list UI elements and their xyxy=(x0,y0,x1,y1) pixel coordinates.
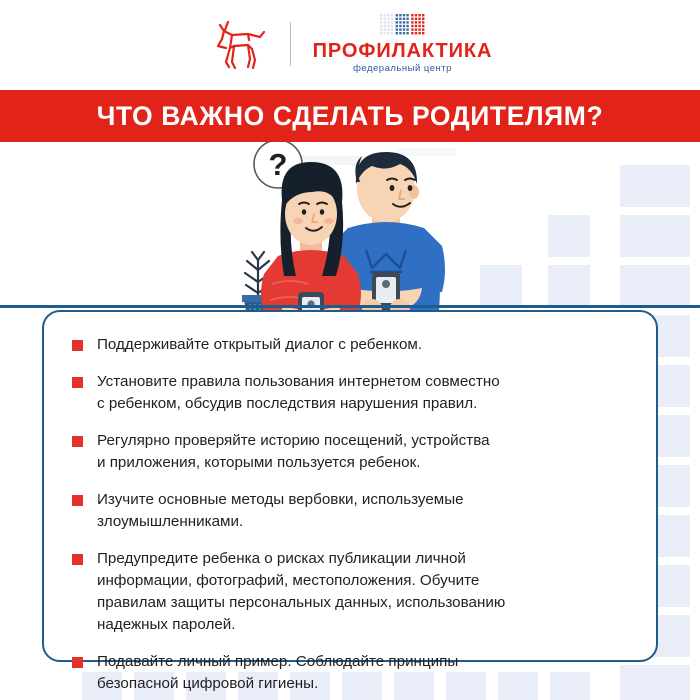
brand-subtitle: федеральный центр xyxy=(353,64,452,74)
tip-text: Поддерживайте открытый диалог с ребенком… xyxy=(97,334,422,356)
illustration: ? xyxy=(0,142,700,312)
brand-text-block: ПРОФИЛАКТИКА федеральный центр xyxy=(313,14,493,74)
title-banner: ЧТО ВАЖНО СДЕЛАТЬ РОДИТЕЛЯМ? xyxy=(0,90,700,142)
bullet-square-icon xyxy=(72,554,83,565)
list-item: Предупредите ребенка о рисках публикации… xyxy=(72,548,628,636)
brand-wordmark: ПРОФИЛАКТИКА xyxy=(313,41,493,61)
bullet-square-icon xyxy=(72,340,83,351)
logo-divider xyxy=(290,22,291,66)
tip-text: Подавайте личный пример. Соблюдайте прин… xyxy=(97,651,458,695)
tip-text: Предупредите ребенка о рисках публикации… xyxy=(97,548,505,636)
tip-text: Установите правила пользования интернето… xyxy=(97,371,500,415)
teens-with-phones-illustration: ? xyxy=(0,142,700,312)
tip-text: Изучите основные методы вербовки, исполь… xyxy=(97,489,464,533)
bullet-square-icon xyxy=(72,657,83,668)
list-item: Подавайте личный пример. Соблюдайте прин… xyxy=(72,651,628,695)
brand-header: ПРОФИЛАКТИКА федеральный центр xyxy=(0,0,700,88)
deer-line-art-icon xyxy=(208,15,270,73)
tip-text: Регулярно проверяйте историю посещений, … xyxy=(97,430,490,474)
page-title: ЧТО ВАЖНО СДЕЛАТЬ РОДИТЕЛЯМ? xyxy=(97,103,604,130)
floor-line xyxy=(0,305,700,308)
bullet-square-icon xyxy=(72,436,83,447)
list-item: Регулярно проверяйте историю посещений, … xyxy=(72,430,628,474)
list-item: Установите правила пользования интернето… xyxy=(72,371,628,415)
tips-card: Поддерживайте открытый диалог с ребенком… xyxy=(42,310,658,662)
bullet-square-icon xyxy=(72,495,83,506)
list-item: Поддерживайте открытый диалог с ребенком… xyxy=(72,334,628,356)
bullet-square-icon xyxy=(72,377,83,388)
list-item: Изучите основные методы вербовки, исполь… xyxy=(72,489,628,533)
tips-list: Поддерживайте открытый диалог с ребенком… xyxy=(72,334,628,695)
tricolor-dot-grid-icon xyxy=(380,14,426,38)
decor-square xyxy=(620,665,690,700)
poster-root: ПРОФИЛАКТИКА федеральный центр ЧТО ВАЖНО… xyxy=(0,0,700,700)
